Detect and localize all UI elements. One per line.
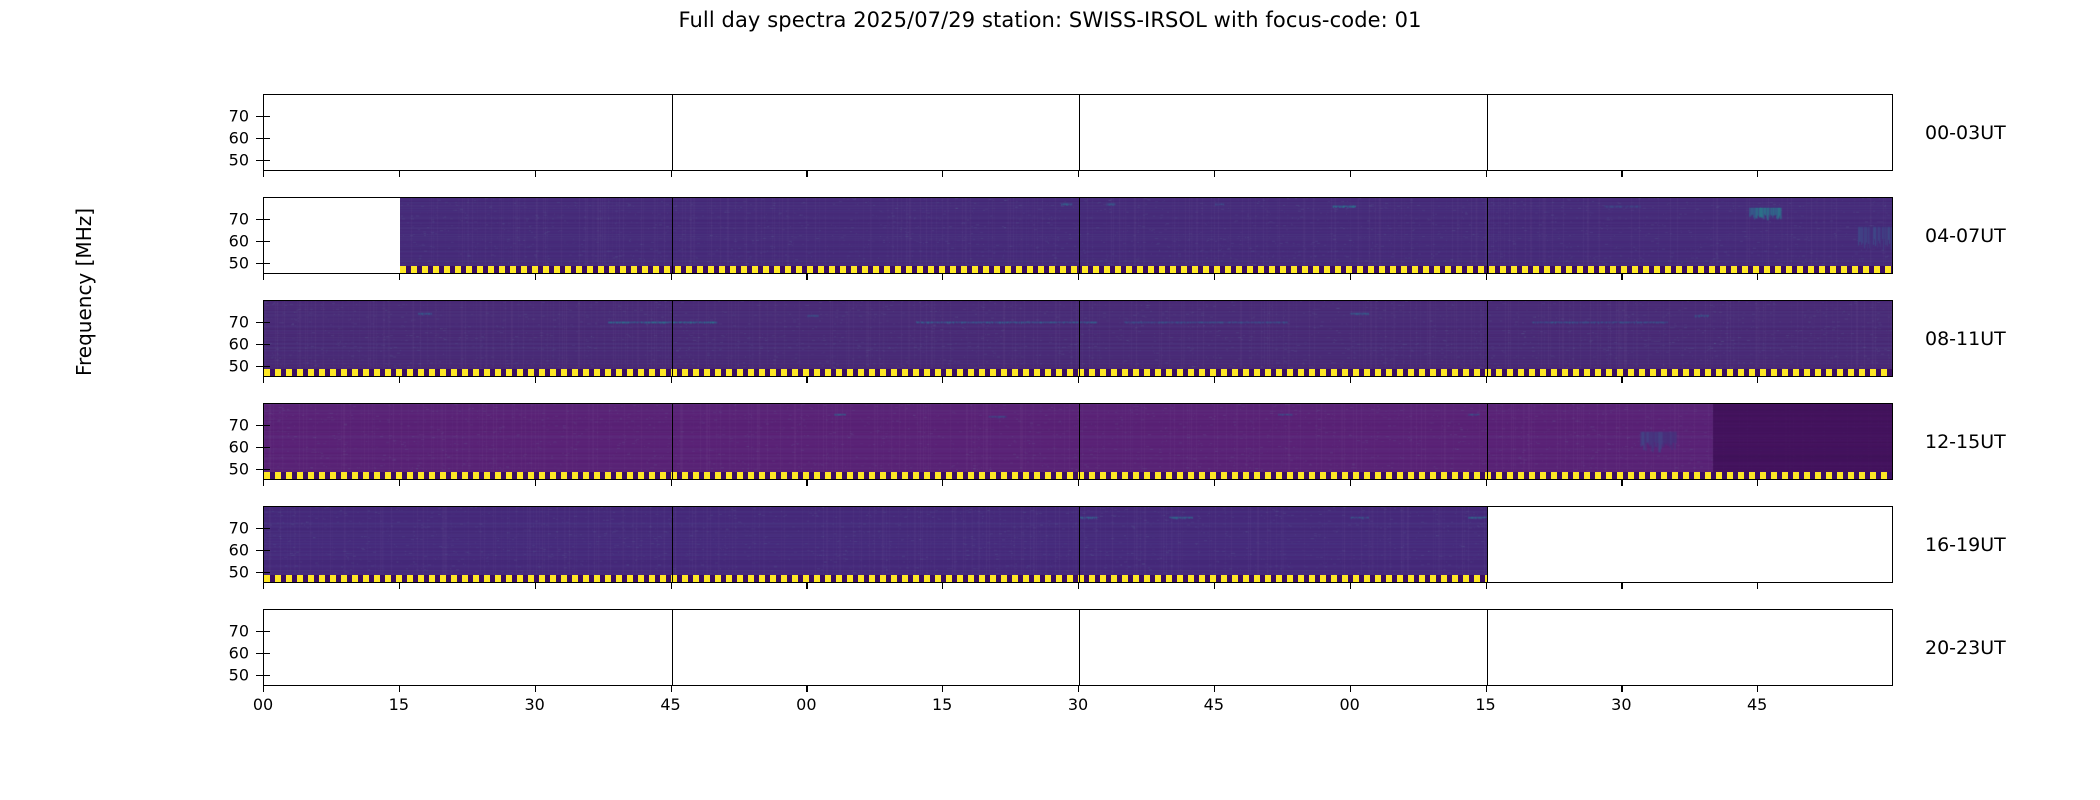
- y-tick-mark: [256, 241, 263, 242]
- y-tick-mark: [256, 572, 263, 573]
- x-tick-mark: [1078, 274, 1079, 280]
- hour-separator-line: [1487, 507, 1488, 582]
- y-tick-mark-inner: [263, 344, 270, 345]
- hour-separator-line: [1487, 404, 1488, 479]
- x-tick-label: 30: [1068, 695, 1088, 714]
- x-tick-mark: [806, 583, 807, 589]
- x-tick-mark: [1350, 171, 1351, 177]
- y-tick-mark-inner: [263, 160, 270, 161]
- x-tick-mark: [535, 583, 536, 589]
- x-tick-mark: [942, 480, 943, 486]
- y-tick-mark-inner: [263, 425, 270, 426]
- row-label-16-19ut: 16-19UT: [1925, 534, 2006, 556]
- x-tick-mark: [1214, 480, 1215, 486]
- hour-separator-line: [672, 95, 673, 170]
- hour-separator-line: [1079, 198, 1080, 273]
- x-tick-mark: [263, 171, 264, 177]
- x-tick-mark: [1621, 377, 1622, 383]
- plot-area: [264, 404, 1892, 479]
- x-tick-mark: [1350, 274, 1351, 280]
- calibration-strip: [264, 575, 1487, 582]
- x-tick-mark: [1621, 480, 1622, 486]
- y-tick-mark-inner: [263, 366, 270, 367]
- x-tick-mark: [942, 583, 943, 589]
- calibration-strip: [400, 266, 1892, 273]
- row-label-08-11ut: 08-11UT: [1925, 328, 2006, 350]
- plot-area: [264, 198, 1892, 273]
- spectrogram-panel-20-23ut: [263, 609, 1893, 686]
- y-tick-label: 70: [205, 313, 249, 332]
- x-tick-mark: [1214, 377, 1215, 383]
- noise-texture: [400, 198, 1892, 273]
- x-tick-mark: [263, 583, 264, 589]
- x-tick-label: 15: [932, 695, 952, 714]
- noise-texture: [264, 507, 1487, 582]
- y-tick-mark-inner: [263, 653, 270, 654]
- y-tick-mark-inner: [263, 447, 270, 448]
- x-tick-mark: [671, 480, 672, 486]
- y-tick-label: 70: [205, 210, 249, 229]
- hour-separator-line: [672, 404, 673, 479]
- x-tick-mark: [1757, 377, 1758, 383]
- x-tick-mark: [399, 480, 400, 486]
- hour-separator-line: [1487, 95, 1488, 170]
- y-tick-label: 50: [205, 357, 249, 376]
- y-tick-mark-inner: [263, 138, 270, 139]
- x-tick-label: 30: [524, 695, 544, 714]
- x-tick-label: 45: [1204, 695, 1224, 714]
- x-tick-mark: [1621, 171, 1622, 177]
- x-tick-mark: [1214, 583, 1215, 589]
- x-tick-mark: [1486, 274, 1487, 280]
- y-tick-mark: [256, 344, 263, 345]
- y-tick-label: 60: [205, 129, 249, 148]
- y-tick-mark-inner: [263, 469, 270, 470]
- x-tick-mark: [942, 171, 943, 177]
- x-tick-mark: [806, 171, 807, 177]
- row-label-20-23ut: 20-23UT: [1925, 637, 2006, 659]
- y-tick-mark: [256, 528, 263, 529]
- x-tick-mark: [1078, 686, 1079, 692]
- x-tick-mark: [1078, 583, 1079, 589]
- y-tick-mark-inner: [263, 219, 270, 220]
- y-tick-label: 70: [205, 519, 249, 538]
- figure-title: Full day spectra 2025/07/29 station: SWI…: [0, 8, 2100, 32]
- hour-separator-line: [672, 198, 673, 273]
- y-tick-mark: [256, 447, 263, 448]
- hour-separator-line: [672, 610, 673, 685]
- x-tick-mark: [399, 274, 400, 280]
- plot-area: [264, 95, 1892, 170]
- calibration-strip: [264, 472, 1892, 479]
- y-tick-mark: [256, 631, 263, 632]
- y-tick-label: 50: [205, 151, 249, 170]
- spectrogram-data: [264, 507, 1487, 582]
- spectrogram-panel-00-03ut: [263, 94, 1893, 171]
- y-tick-label: 60: [205, 438, 249, 457]
- spectrogram-panel-16-19ut: [263, 506, 1893, 583]
- x-tick-label: 15: [1475, 695, 1495, 714]
- x-tick-mark: [263, 274, 264, 280]
- hour-separator-line: [1487, 301, 1488, 376]
- x-tick-mark: [535, 171, 536, 177]
- y-tick-label: 60: [205, 644, 249, 663]
- y-tick-mark-inner: [263, 263, 270, 264]
- y-tick-mark-inner: [263, 572, 270, 573]
- x-tick-mark: [1486, 377, 1487, 383]
- spectrogram-panel-12-15ut: [263, 403, 1893, 480]
- plot-area: [264, 301, 1892, 376]
- y-tick-label: 60: [205, 335, 249, 354]
- x-tick-mark: [942, 274, 943, 280]
- x-tick-mark: [1757, 686, 1758, 692]
- row-label-04-07ut: 04-07UT: [1925, 225, 2006, 247]
- x-tick-mark: [806, 480, 807, 486]
- x-tick-mark: [535, 480, 536, 486]
- row-label-12-15ut: 12-15UT: [1925, 431, 2006, 453]
- y-tick-label: 50: [205, 666, 249, 685]
- hour-separator-line: [672, 301, 673, 376]
- y-tick-mark-inner: [263, 528, 270, 529]
- x-tick-mark: [1486, 686, 1487, 692]
- x-tick-label: 45: [660, 695, 680, 714]
- x-tick-mark: [1350, 583, 1351, 589]
- y-tick-mark: [256, 550, 263, 551]
- y-tick-mark: [256, 138, 263, 139]
- x-tick-mark: [671, 377, 672, 383]
- spectrogram-figure: Full day spectra 2025/07/29 station: SWI…: [0, 0, 2100, 800]
- x-tick-label: 45: [1747, 695, 1767, 714]
- y-tick-mark-inner: [263, 322, 270, 323]
- hour-separator-line: [1079, 507, 1080, 582]
- y-axis-label: Frequency [MHz]: [72, 152, 96, 432]
- y-tick-label: 50: [205, 254, 249, 273]
- noise-texture: [264, 301, 1892, 376]
- spectrogram-data: [264, 404, 1892, 479]
- y-tick-mark-inner: [263, 675, 270, 676]
- y-tick-mark: [256, 425, 263, 426]
- y-tick-mark: [256, 366, 263, 367]
- y-tick-mark: [256, 469, 263, 470]
- x-tick-mark: [1757, 480, 1758, 486]
- y-tick-mark-inner: [263, 241, 270, 242]
- x-tick-mark: [942, 686, 943, 692]
- x-tick-mark: [1214, 171, 1215, 177]
- x-tick-mark: [1757, 274, 1758, 280]
- row-label-00-03ut: 00-03UT: [1925, 122, 2006, 144]
- x-tick-mark: [1350, 377, 1351, 383]
- x-tick-mark: [1621, 583, 1622, 589]
- x-tick-mark: [1350, 480, 1351, 486]
- x-tick-mark: [1621, 274, 1622, 280]
- spectrogram-data: [400, 198, 1892, 273]
- x-tick-mark: [1214, 686, 1215, 692]
- x-tick-mark: [806, 377, 807, 383]
- x-tick-mark: [671, 171, 672, 177]
- x-tick-mark: [399, 583, 400, 589]
- y-tick-mark-inner: [263, 550, 270, 551]
- x-tick-mark: [399, 686, 400, 692]
- plot-area: [264, 507, 1892, 582]
- spectrogram-panel-08-11ut: [263, 300, 1893, 377]
- y-tick-label: 50: [205, 563, 249, 582]
- y-tick-mark: [256, 322, 263, 323]
- x-tick-mark: [1757, 583, 1758, 589]
- hour-separator-line: [1079, 95, 1080, 170]
- y-tick-label: 60: [205, 541, 249, 560]
- x-tick-mark: [263, 686, 264, 692]
- y-tick-mark: [256, 653, 263, 654]
- x-tick-mark: [806, 686, 807, 692]
- y-tick-mark: [256, 219, 263, 220]
- x-tick-mark: [1621, 686, 1622, 692]
- y-tick-label: 50: [205, 460, 249, 479]
- x-tick-label: 00: [796, 695, 816, 714]
- x-tick-mark: [1078, 480, 1079, 486]
- x-tick-label: 00: [253, 695, 273, 714]
- hour-separator-line: [672, 507, 673, 582]
- plot-area: [264, 610, 1892, 685]
- hour-separator-line: [1487, 610, 1488, 685]
- spectrogram-data: [264, 301, 1892, 376]
- x-tick-mark: [399, 377, 400, 383]
- x-tick-mark: [535, 377, 536, 383]
- x-tick-mark: [399, 171, 400, 177]
- y-tick-mark: [256, 675, 263, 676]
- x-tick-mark: [263, 480, 264, 486]
- x-tick-mark: [263, 377, 264, 383]
- x-tick-label: 30: [1611, 695, 1631, 714]
- x-tick-mark: [806, 274, 807, 280]
- hour-separator-line: [1079, 301, 1080, 376]
- x-tick-label: 15: [389, 695, 409, 714]
- hour-separator-line: [1487, 198, 1488, 273]
- y-tick-mark: [256, 263, 263, 264]
- x-tick-mark: [1486, 171, 1487, 177]
- x-tick-mark: [1486, 583, 1487, 589]
- hour-separator-line: [1079, 404, 1080, 479]
- x-tick-mark: [1214, 274, 1215, 280]
- x-tick-mark: [671, 274, 672, 280]
- y-tick-label: 70: [205, 622, 249, 641]
- y-tick-label: 70: [205, 107, 249, 126]
- x-tick-mark: [1350, 686, 1351, 692]
- x-tick-mark: [535, 686, 536, 692]
- x-tick-mark: [1757, 171, 1758, 177]
- noise-texture: [264, 404, 1892, 479]
- x-tick-mark: [942, 377, 943, 383]
- calibration-strip: [264, 369, 1892, 376]
- x-tick-mark: [671, 583, 672, 589]
- x-tick-mark: [1078, 377, 1079, 383]
- x-tick-mark: [1486, 480, 1487, 486]
- y-tick-mark: [256, 116, 263, 117]
- y-tick-mark-inner: [263, 631, 270, 632]
- x-tick-mark: [535, 274, 536, 280]
- y-tick-label: 60: [205, 232, 249, 251]
- hour-separator-line: [1079, 610, 1080, 685]
- spectrogram-panel-04-07ut: [263, 197, 1893, 274]
- x-tick-label: 00: [1339, 695, 1359, 714]
- y-tick-label: 70: [205, 416, 249, 435]
- y-tick-mark: [256, 160, 263, 161]
- y-tick-mark-inner: [263, 116, 270, 117]
- x-tick-mark: [1078, 171, 1079, 177]
- x-tick-mark: [671, 686, 672, 692]
